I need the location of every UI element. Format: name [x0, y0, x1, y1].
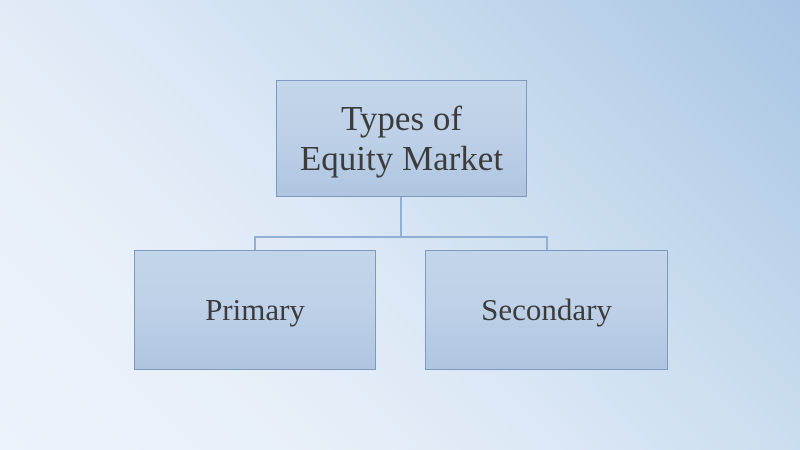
primary-node-label: Primary	[135, 293, 375, 328]
root-node-label: Types of Equity Market	[277, 99, 526, 177]
slide-canvas: Types of Equity Market Primary Secondary	[0, 0, 800, 450]
diagram-node-secondary[interactable]: Secondary	[425, 250, 668, 370]
secondary-node-label: Secondary	[426, 293, 667, 328]
connector-horizontal-bar	[254, 236, 548, 238]
connector-drop-left	[254, 236, 256, 251]
diagram-node-primary[interactable]: Primary	[134, 250, 376, 370]
diagram-node-root[interactable]: Types of Equity Market	[276, 80, 527, 197]
connector-drop-right	[546, 236, 548, 251]
root-label-line-2: Equity Market	[283, 139, 520, 178]
connector-stem-vertical	[400, 197, 402, 238]
root-label-line-1: Types of	[283, 99, 520, 138]
